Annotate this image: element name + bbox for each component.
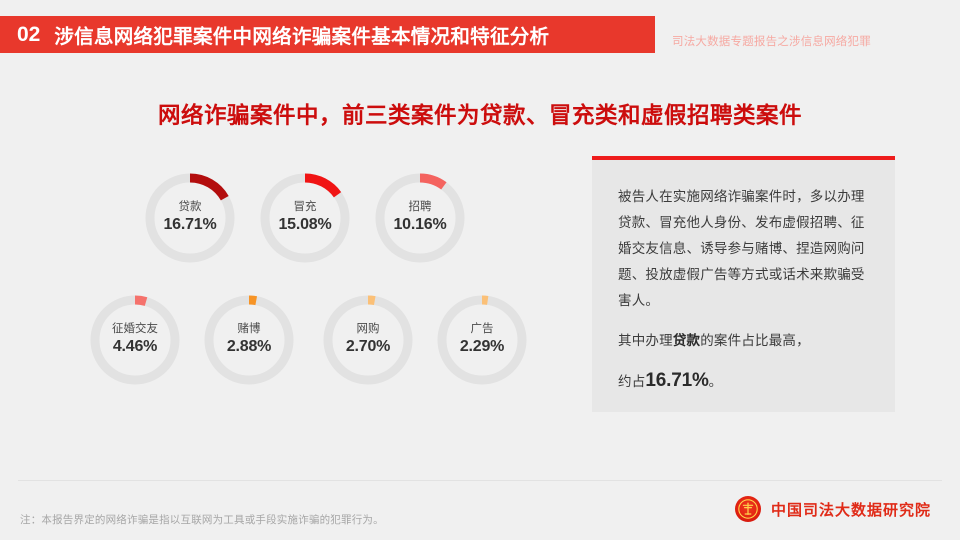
brand-lockup: 中国司法大数据研究院	[735, 496, 931, 522]
report-series-label: 司法大数据专题报告之涉信息网络犯罪	[672, 33, 871, 49]
donut-value: 15.08%	[257, 215, 353, 235]
commentary-paragraph-1: 被告人在实施网络诈骗案件时，多以办理贷款、冒充他人身份、发布虚假招聘、征婚交友信…	[618, 184, 874, 314]
commentary-paragraph-3: 约占16.71%。	[618, 368, 874, 395]
commentary-p3-post: 。	[709, 374, 723, 389]
donut-chart-advertising: 广告 2.29%	[434, 292, 530, 388]
donut-chart-dating: 征婚交友 4.46%	[87, 292, 183, 388]
donut-value: 2.88%	[201, 337, 297, 357]
donut-value: 10.16%	[372, 215, 468, 235]
donut-label: 广告	[434, 322, 530, 337]
commentary-p3-pre: 约占	[618, 374, 645, 389]
donut-value: 2.29%	[434, 337, 530, 357]
donut-value: 4.46%	[87, 337, 183, 357]
footnote-text: 注：本报告界定的网络诈骗是指以互联网为工具或手段实施诈骗的犯罪行为。	[20, 512, 384, 527]
footer-divider	[18, 480, 942, 481]
donut-chart-grid: 贷款 16.71% 冒充 15.08% 招聘 10.16% 征婚交友 4.46%	[0, 0, 570, 540]
donut-label: 征婚交友	[87, 322, 183, 337]
national-emblem-glyph	[735, 496, 761, 522]
donut-label: 冒充	[257, 200, 353, 215]
donut-label: 赌博	[201, 322, 297, 337]
commentary-p2-emphasis: 贷款	[673, 333, 700, 348]
donut-label: 网购	[320, 322, 416, 337]
donut-chart-impersonation: 冒充 15.08%	[257, 170, 353, 266]
donut-chart-recruitment: 招聘 10.16%	[372, 170, 468, 266]
commentary-p2-post: 的案件占比最高，	[700, 333, 810, 348]
donut-chart-online-shopping: 网购 2.70%	[320, 292, 416, 388]
donut-value: 2.70%	[320, 337, 416, 357]
brand-name: 中国司法大数据研究院	[771, 499, 931, 520]
donut-chart-gambling: 赌博 2.88%	[201, 292, 297, 388]
donut-label: 贷款	[142, 200, 238, 215]
commentary-paragraph-2: 其中办理贷款的案件占比最高，	[618, 328, 874, 354]
panel-accent-bar	[592, 156, 895, 160]
commentary-p3-emphasis: 16.71%	[645, 370, 708, 391]
donut-value: 16.71%	[142, 215, 238, 235]
donut-chart-loan: 贷款 16.71%	[142, 170, 238, 266]
commentary-panel-body: 被告人在实施网络诈骗案件时，多以办理贷款、冒充他人身份、发布虚假招聘、征婚交友信…	[618, 184, 874, 395]
commentary-p2-pre: 其中办理	[618, 333, 673, 348]
national-emblem-icon	[735, 496, 761, 522]
donut-label: 招聘	[372, 200, 468, 215]
